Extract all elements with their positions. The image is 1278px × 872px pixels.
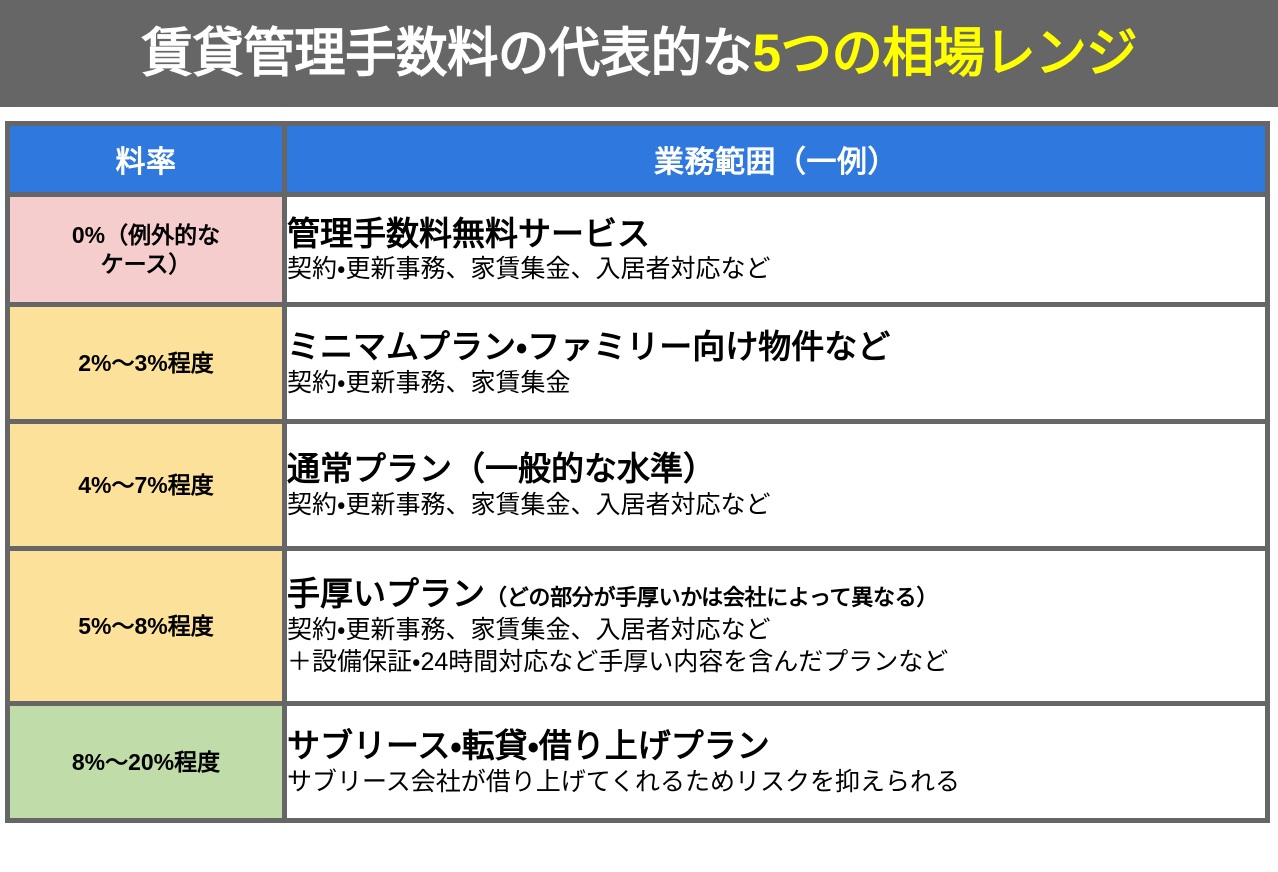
column-header-rate: 料率 bbox=[10, 126, 282, 192]
rate-label-line1: 5%〜8%程度 bbox=[10, 612, 282, 641]
scope-detail-line: ＋設備保証・24時間対応など手厚い内容を含んだプランなど bbox=[287, 646, 1265, 678]
rate-cell: 4%〜7%程度 bbox=[10, 424, 282, 546]
rate-cell: 8%〜20%程度 bbox=[10, 706, 282, 818]
scope-heading-note: （どの部分が手厚いかは会社によって異なる） bbox=[485, 585, 938, 610]
rate-cell: 5%〜8%程度 bbox=[10, 551, 282, 701]
scope-heading: 通常プラン（一般的な水準） bbox=[287, 449, 1265, 489]
scope-cell: 通常プラン（一般的な水準） 契約・更新事務、家賃集金、入居者対応など bbox=[287, 424, 1265, 546]
scope-heading: ミニマムプラン・ファミリー向け物件など bbox=[287, 327, 1265, 367]
infographic-page: 賃貸管理手数料の代表的な5つの相場レンジ 料率 業務範囲（一例） 0%（例外的な… bbox=[0, 0, 1278, 872]
page-title: 賃貸管理手数料の代表的な5つの相場レンジ bbox=[141, 27, 1137, 80]
page-title-plain: 賃貸管理手数料の代表的な bbox=[141, 24, 752, 83]
scope-heading-main: 手厚いプラン bbox=[287, 575, 485, 612]
scope-cell: 手厚いプラン（どの部分が手厚いかは会社によって異なる） 契約・更新事務、家賃集金… bbox=[287, 551, 1265, 701]
scope-detail-line: 契約・更新事務、家賃集金、入居者対応など bbox=[287, 489, 1265, 521]
rate-label-line1: 0%（例外的な bbox=[10, 221, 282, 250]
scope-detail-line: サブリース会社が借り上げてくれるためリスクを抑えられる bbox=[287, 766, 1265, 798]
table-row: 5%〜8%程度 手厚いプラン（どの部分が手厚いかは会社によって異なる） 契約・更… bbox=[10, 551, 1265, 701]
rate-label-line1: 2%〜3%程度 bbox=[10, 349, 282, 378]
scope-cell: サブリース・転貸・借り上げプラン サブリース会社が借り上げてくれるためリスクを抑… bbox=[287, 706, 1265, 818]
rate-label-line1: 8%〜20%程度 bbox=[10, 748, 282, 777]
rate-label-line2: ケース） bbox=[10, 250, 282, 279]
scope-heading: サブリース・転貸・借り上げプラン bbox=[287, 726, 1265, 766]
scope-heading-main: サブリース・転貸・借り上げプラン bbox=[287, 727, 770, 764]
page-title-highlight: 5つの相場レンジ bbox=[752, 24, 1137, 83]
table-row: 0%（例外的な ケース） 管理手数料無料サービス 契約・更新事務、家賃集金、入居… bbox=[10, 197, 1265, 302]
scope-detail-line: 契約・更新事務、家賃集金、入居者対応など bbox=[287, 253, 1265, 285]
rate-label-line1: 4%〜7%程度 bbox=[10, 471, 282, 500]
scope-heading-main: 通常プラン（一般的な水準） bbox=[287, 450, 716, 487]
scope-detail-line: 契約・更新事務、家賃集金 bbox=[287, 367, 1265, 399]
table-row: 2%〜3%程度 ミニマムプラン・ファミリー向け物件など 契約・更新事務、家賃集金 bbox=[10, 307, 1265, 419]
table-row: 4%〜7%程度 通常プラン（一般的な水準） 契約・更新事務、家賃集金、入居者対応… bbox=[10, 424, 1265, 546]
rate-cell: 2%〜3%程度 bbox=[10, 307, 282, 419]
scope-detail-line: 契約・更新事務、家賃集金、入居者対応など bbox=[287, 614, 1265, 646]
table-header-row: 料率 業務範囲（一例） bbox=[10, 126, 1265, 192]
scope-cell: ミニマムプラン・ファミリー向け物件など 契約・更新事務、家賃集金 bbox=[287, 307, 1265, 419]
table-row: 8%〜20%程度 サブリース・転貸・借り上げプラン サブリース会社が借り上げてく… bbox=[10, 706, 1265, 818]
rate-cell: 0%（例外的な ケース） bbox=[10, 197, 282, 302]
title-banner: 賃貸管理手数料の代表的な5つの相場レンジ bbox=[0, 0, 1278, 107]
fee-range-table: 料率 業務範囲（一例） 0%（例外的な ケース） 管理手数料無料サービス 契約・… bbox=[5, 121, 1270, 823]
column-header-scope: 業務範囲（一例） bbox=[287, 126, 1265, 192]
scope-heading-main: 管理手数料無料サービス bbox=[287, 215, 650, 252]
scope-heading: 管理手数料無料サービス bbox=[287, 214, 1265, 254]
scope-cell: 管理手数料無料サービス 契約・更新事務、家賃集金、入居者対応など bbox=[287, 197, 1265, 302]
scope-heading-main: ミニマムプラン・ファミリー向け物件など bbox=[287, 328, 890, 365]
scope-heading: 手厚いプラン（どの部分が手厚いかは会社によって異なる） bbox=[287, 574, 1265, 614]
